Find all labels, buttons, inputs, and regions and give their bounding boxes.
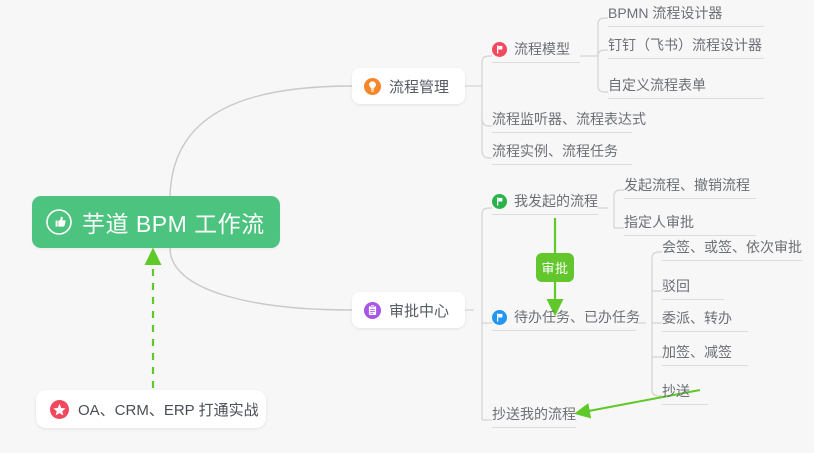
root-node[interactable]: 芋道 BPM 工作流	[32, 196, 280, 248]
sub-label-dingtalk-designer: 钉钉（飞书）流程设计器	[608, 37, 762, 54]
sub-label-cc: 抄送	[662, 383, 690, 400]
sub-node-start-cancel-process[interactable]: 发起流程、撤销流程	[624, 174, 756, 199]
clipboard-icon	[364, 302, 381, 319]
integration-card[interactable]: OA、CRM、ERP 打通实战	[36, 390, 266, 428]
sub-node-listener-expression[interactable]: 流程监听器、流程表达式	[492, 108, 632, 133]
sub-label-todo-done-tasks: 待办任务、已办任务	[514, 309, 640, 326]
sub-label-delegate-transfer: 委派、转办	[662, 310, 732, 327]
sub-label-start-cancel-process: 发起流程、撤销流程	[624, 177, 750, 194]
sub-label-add-remove-sign: 加签、减签	[662, 344, 732, 361]
sub-label-cc-to-me: 抄送我的流程	[492, 406, 576, 423]
integration-card-label: OA、CRM、ERP 打通实战	[78, 399, 259, 420]
sub-node-custom-form[interactable]: 自定义流程表单	[608, 74, 764, 99]
sub-node-process-model[interactable]: 流程模型	[492, 38, 580, 63]
branch-node-process-management[interactable]: 流程管理	[352, 68, 465, 104]
branch-label-approval-center: 审批中心	[389, 300, 449, 321]
branch-label-process-management: 流程管理	[389, 76, 449, 97]
flag-icon	[492, 42, 507, 57]
sub-node-instance-task[interactable]: 流程实例、流程任务	[492, 140, 632, 165]
sub-node-cc[interactable]: 抄送	[662, 380, 708, 405]
sub-node-dingtalk-designer[interactable]: 钉钉（飞书）流程设计器	[608, 34, 764, 59]
sub-label-listener-expression: 流程监听器、流程表达式	[492, 111, 646, 128]
sub-label-process-model: 流程模型	[514, 41, 570, 58]
lightbulb-icon	[364, 78, 381, 95]
thumbs-up-icon	[46, 209, 72, 235]
sub-node-add-remove-sign[interactable]: 加签、减签	[662, 341, 748, 366]
connector-root-to-process-management	[170, 86, 352, 200]
mindmap-canvas: 芋道 BPM 工作流 流程管理 审批中心	[0, 0, 814, 453]
sub-label-bpmn-designer: BPMN 流程设计器	[608, 5, 722, 22]
sub-node-delegate-transfer[interactable]: 委派、转办	[662, 307, 748, 332]
sub-node-todo-done-tasks[interactable]: 待办任务、已办任务	[492, 306, 636, 331]
sub-node-countersign[interactable]: 会签、或签、依次审批	[662, 236, 802, 261]
sub-label-custom-form: 自定义流程表单	[608, 77, 706, 94]
approval-flow-tag: 审批	[536, 253, 574, 282]
flag-icon	[492, 310, 507, 325]
sub-label-reject: 驳回	[662, 278, 690, 295]
sub-node-cc-to-me[interactable]: 抄送我的流程	[492, 403, 576, 428]
sub-label-assignee-approval: 指定人审批	[624, 214, 694, 231]
sub-label-countersign: 会签、或签、依次审批	[662, 239, 802, 256]
sub-node-my-started-process[interactable]: 我发起的流程	[492, 190, 598, 215]
sub-node-assignee-approval[interactable]: 指定人审批	[624, 211, 756, 236]
sub-label-my-started-process: 我发起的流程	[514, 193, 598, 210]
flag-icon	[492, 194, 507, 209]
root-label: 芋道 BPM 工作流	[82, 205, 265, 239]
star-icon	[50, 400, 69, 419]
sub-node-bpmn-designer[interactable]: BPMN 流程设计器	[608, 2, 764, 27]
connector-root-to-approval-center	[170, 248, 352, 310]
sub-label-instance-task: 流程实例、流程任务	[492, 143, 618, 160]
sub-node-reject[interactable]: 驳回	[662, 275, 724, 300]
branch-node-approval-center[interactable]: 审批中心	[352, 292, 465, 328]
